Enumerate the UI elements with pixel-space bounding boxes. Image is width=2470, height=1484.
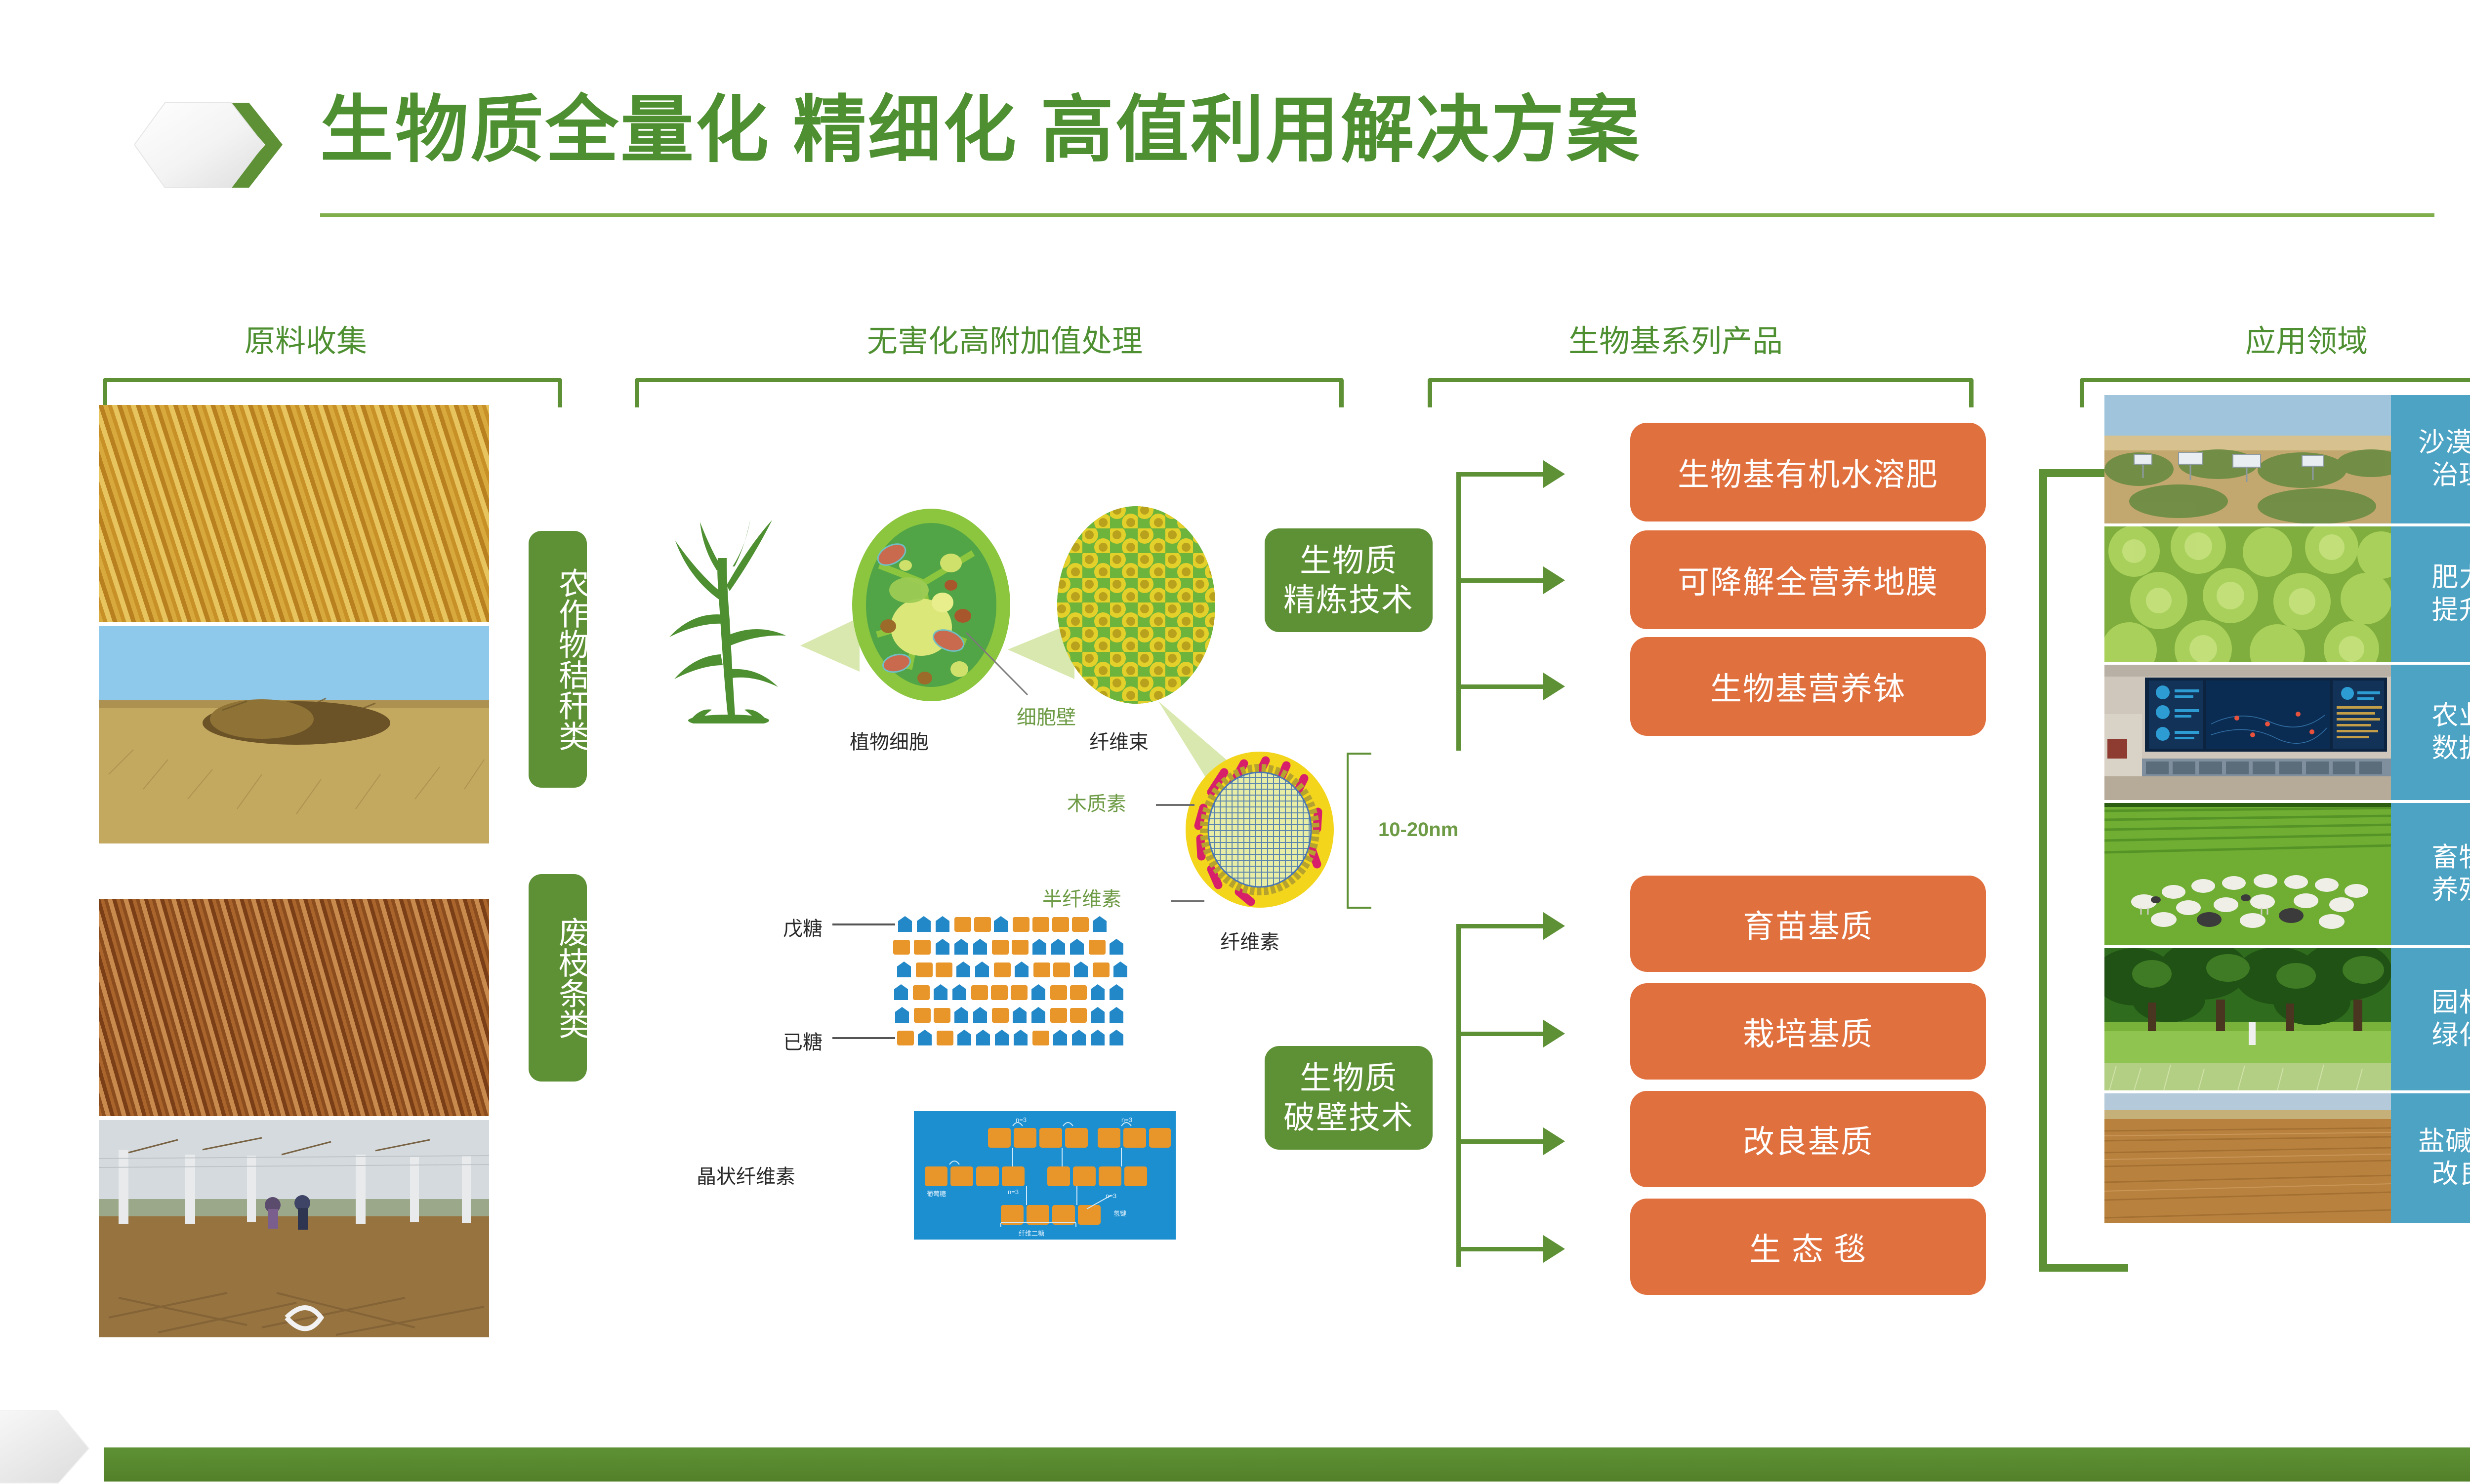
application-label-saline-alkali: 盐碱地 改良 — [2391, 1093, 2470, 1223]
application-row-fertility[interactable]: 肥力 提升 — [2104, 526, 2470, 662]
fiber-bundle-label: 纤维束 — [1089, 726, 1149, 755]
svg-text:n=3: n=3 — [1008, 1188, 1019, 1196]
page-title: 生物质全量化 精细化 高值利用解决方案 — [320, 94, 1641, 167]
product-box-improved-substrate[interactable]: 改良基质 — [1630, 1091, 1986, 1187]
application-label-livestock: 畜牧 养殖 — [2391, 803, 2470, 945]
label-line-1: 园林 — [2432, 987, 2470, 1019]
label-line-2: 治理 — [2432, 459, 2470, 492]
svg-text:纤维二糖: 纤维二糖 — [1019, 1230, 1044, 1237]
pentose-label: 戊糖 — [783, 913, 823, 941]
bracket-biobased-products — [1428, 378, 1974, 407]
connector-branch-2c — [1456, 1139, 1545, 1144]
bottom-green-bar — [104, 1447, 2470, 1482]
arrow-head-2d — [1543, 1235, 1565, 1263]
product-box-organic-water-soluble-fertilizer[interactable]: 生物基有机水溶肥 — [1630, 423, 1986, 521]
section-label-application-fields: 应用领域 — [2245, 316, 2368, 361]
label-line-2: 提升 — [2432, 594, 2470, 627]
cellulose-label: 纤维素 — [1220, 926, 1279, 955]
straw-bale-field-photo — [99, 626, 489, 843]
arrow-head-2b — [1543, 1020, 1565, 1047]
hexose-label: 已糖 — [783, 1026, 823, 1055]
hemicellulose-leader-line — [1171, 896, 1205, 906]
label-line-2: 改良 — [2432, 1158, 2470, 1191]
biomass-wall-breaking-technology-box[interactable]: 生物质 破壁技术 — [1265, 1046, 1433, 1150]
tech-label-line1: 生物质 — [1300, 1058, 1398, 1098]
svg-text:n=3: n=3 — [1016, 1116, 1027, 1123]
application-row-livestock[interactable]: 畜牧 养殖 — [2104, 803, 2470, 945]
label-line-2: 绿化 — [2432, 1019, 2470, 1052]
cellulose-cross-section — [1181, 751, 1339, 909]
svg-text:n=3: n=3 — [1106, 1192, 1116, 1200]
biomass-refining-technology-box[interactable]: 生物质 精炼技术 — [1265, 528, 1433, 632]
label-line-1: 农业 — [2432, 700, 2470, 732]
connector-branch-2a — [1456, 924, 1545, 928]
vineyard-pruning-photo — [99, 1120, 489, 1337]
connector-trunk-2 — [1456, 926, 1461, 1267]
connector-branch-1b — [1456, 578, 1545, 583]
product-box-ecological-blanket[interactable]: 生 态 毯 — [1630, 1199, 1986, 1295]
page-header: 生物质全量化 精细化 高值利用解决方案 — [0, 0, 2470, 232]
svg-text:氢键: 氢键 — [1113, 1210, 1126, 1217]
arrow-head-1c — [1543, 673, 1565, 700]
application-label-fertility: 肥力 提升 — [2391, 526, 2470, 662]
arrow-head-2c — [1543, 1127, 1565, 1155]
pruned-branches-photo — [99, 899, 489, 1116]
cabbage-field-photo — [2104, 526, 2391, 662]
label-line-2: 养殖 — [2432, 874, 2470, 907]
arrow-head-1b — [1543, 566, 1565, 594]
connector-branch-2d — [1456, 1247, 1545, 1251]
saline-soil-photo — [2104, 1093, 2391, 1223]
lignin-leader-line — [1156, 800, 1195, 810]
product-box-cultivation-substrate[interactable]: 栽培基质 — [1630, 983, 1986, 1080]
waste-branch-tag: 废枝条类 — [529, 874, 587, 1082]
data-control-room-photo — [2104, 665, 2391, 800]
svg-text:葡萄糖: 葡萄糖 — [927, 1190, 946, 1198]
application-row-desertification[interactable]: 沙漠化 治理 — [2104, 395, 2470, 523]
crystalline-cellulose-label: 晶状纤维素 — [697, 1161, 795, 1189]
bracket-raw-collection — [103, 378, 562, 407]
park-trees-photo — [2104, 948, 2391, 1090]
section-label-raw-collection: 原料收集 — [245, 316, 367, 361]
svg-text:n=3: n=3 — [1121, 1116, 1132, 1123]
hemicellulose-label: 半纤维素 — [1042, 883, 1121, 912]
application-label-landscape: 园林 绿化 — [2391, 948, 2470, 1090]
tech-label-line2: 精炼技术 — [1283, 580, 1414, 620]
application-row-landscape[interactable]: 园林 绿化 — [2104, 948, 2470, 1090]
crop-straw-tag: 农作物秸秆类 — [529, 531, 587, 788]
label-line-1: 盐碱地 — [2418, 1125, 2470, 1158]
corn-straw-photo — [99, 405, 489, 622]
hexagon-chevron-logo — [134, 83, 292, 206]
label-line-2: 数据 — [2432, 732, 2470, 765]
process-diagram-column: 细胞壁 植物细胞 纤维束 — [608, 405, 1225, 1333]
fiber-bundle-illustration — [1055, 504, 1218, 706]
application-row-saline-alkali[interactable]: 盐碱地 改良 — [2104, 1093, 2470, 1223]
dimension-label: 10-20nm — [1378, 819, 1458, 841]
crystalline-cellulose-panel: n=3n=3 葡萄糖n=3 n=3氢键 纤维二糖 — [914, 1111, 1176, 1240]
plant-silhouette-icon — [655, 511, 808, 723]
connector-trunk-1 — [1456, 474, 1461, 751]
application-label-desertification: 沙漠化 治理 — [2391, 395, 2470, 523]
section-label-harmless-processing: 无害化高附加值处理 — [867, 316, 1143, 361]
arrow-head-1a — [1543, 460, 1565, 488]
tech-label-line2: 破壁技术 — [1283, 1098, 1414, 1137]
application-column: 沙漠化 治理 — [2104, 395, 2470, 1324]
label-line-1: 肥力 — [2432, 562, 2470, 594]
connector-branch-2b — [1456, 1032, 1545, 1036]
connector-branch-1a — [1456, 472, 1545, 477]
sheep-grassland-photo — [2104, 803, 2391, 945]
connector-branch-1c — [1456, 684, 1545, 689]
application-label-agri-data: 农业 数据 — [2391, 665, 2470, 800]
bracket-harmless-processing — [635, 378, 1344, 407]
product-box-seedling-substrate[interactable]: 育苗基质 — [1630, 876, 1986, 972]
title-underline-rule — [320, 213, 2434, 217]
label-line-1: 沙漠化 — [2418, 427, 2470, 459]
product-box-degradable-nutrient-film[interactable]: 可降解全营养地膜 — [1630, 530, 1986, 629]
arrow-head-2a — [1543, 912, 1565, 940]
dimension-bracket — [1344, 751, 1373, 914]
label-line-1: 畜牧 — [2432, 842, 2470, 874]
sugar-chain-diagram — [771, 916, 1215, 1079]
product-box-biobased-nutrient-pot[interactable]: 生物基营养钵 — [1630, 637, 1986, 736]
tech-label-line1: 生物质 — [1300, 541, 1398, 580]
plant-cell-label: 植物细胞 — [850, 726, 929, 755]
section-label-biobased-products: 生物基系列产品 — [1568, 316, 1783, 361]
lignin-label: 木质素 — [1067, 788, 1126, 816]
application-row-agri-data[interactable]: 农业 数据 — [2104, 665, 2470, 800]
desert-field-photo — [2104, 395, 2391, 523]
raw-material-column: 农作物秸秆类 废枝条类 — [99, 405, 489, 1333]
